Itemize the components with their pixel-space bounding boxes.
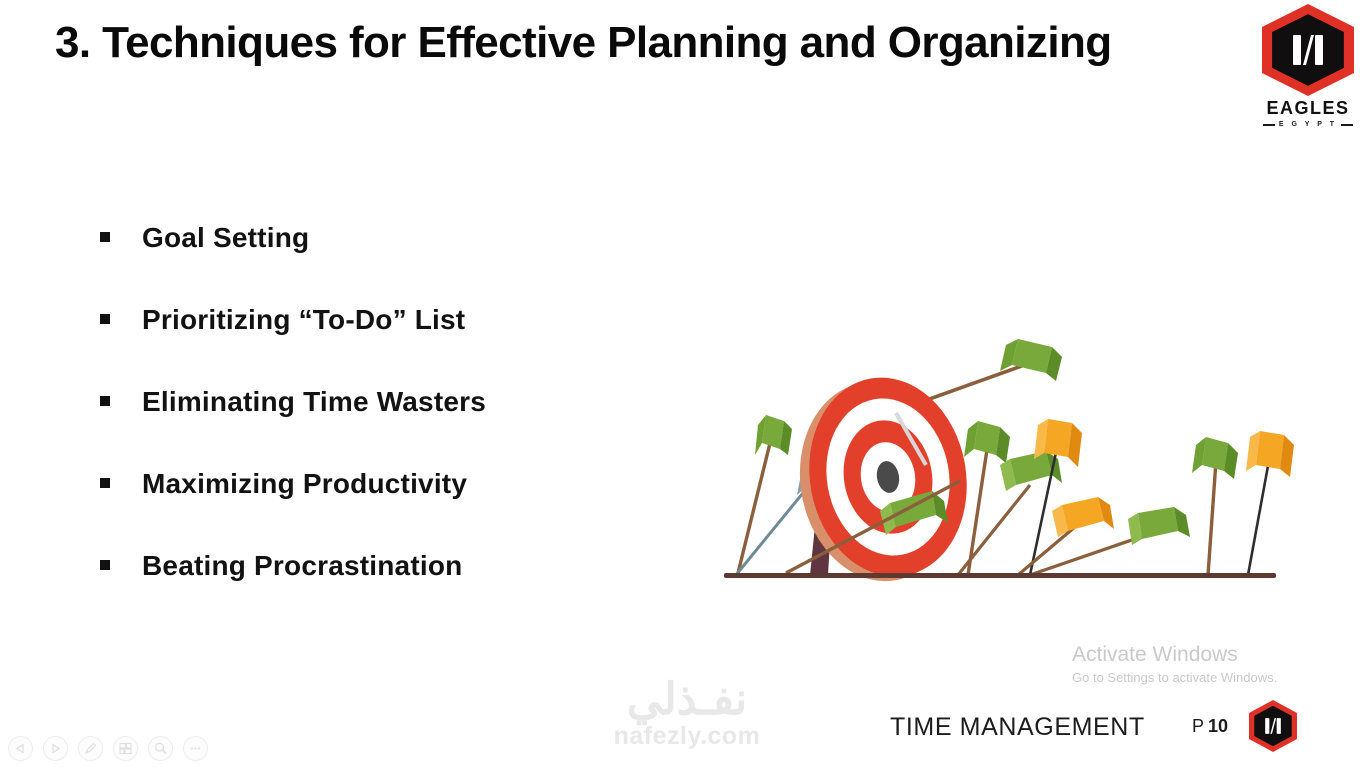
bullet-list: Goal Setting Prioritizing “To-Do” List E… xyxy=(100,222,720,632)
triangle-left-icon xyxy=(14,742,27,755)
arrow-group-right xyxy=(958,419,1190,575)
watermark-arabic: نفـذلي xyxy=(592,678,782,722)
list-item: Eliminating Time Wasters xyxy=(100,386,720,468)
square-bullet-icon xyxy=(100,478,110,488)
activate-windows-overlay: Activate Windows Go to Settings to activ… xyxy=(1072,642,1322,687)
ellipsis-icon xyxy=(188,741,203,756)
watermark-latin: nafezly.com xyxy=(592,723,782,751)
brand-subtitle: E G Y P T xyxy=(1279,121,1337,128)
square-bullet-icon xyxy=(100,560,110,570)
presentation-slide: 3. Techniques for Effective Planning and… xyxy=(0,0,1365,767)
list-item: Goal Setting xyxy=(100,222,720,304)
page-label: P xyxy=(1192,716,1204,736)
next-slide-button[interactable] xyxy=(43,736,68,761)
hexagon-logo-icon xyxy=(1262,4,1354,96)
slide-title: 3. Techniques for Effective Planning and… xyxy=(55,18,1235,69)
list-item-label: Goal Setting xyxy=(142,222,309,254)
square-bullet-icon xyxy=(100,396,110,406)
pen-tool-button[interactable] xyxy=(78,736,103,761)
activate-windows-subtitle: Go to Settings to activate Windows. xyxy=(1072,670,1322,687)
arrow-group-far-right xyxy=(1192,431,1294,575)
eagle-monogram-icon xyxy=(1249,700,1297,752)
footer-deck-title: TIME MANAGEMENT xyxy=(890,713,1145,742)
brand-logo: EAGLES E G Y P T xyxy=(1258,4,1358,136)
grid-icon xyxy=(118,741,133,756)
footer-logo xyxy=(1249,700,1297,752)
list-item: Beating Procrastination xyxy=(100,550,720,632)
eagle-monogram-icon xyxy=(1262,4,1354,96)
square-bullet-icon xyxy=(100,314,110,324)
hexagon-logo-icon xyxy=(1249,700,1297,752)
brand-subtitle-row: E G Y P T xyxy=(1258,121,1358,128)
more-options-button[interactable] xyxy=(183,736,208,761)
player-toolbar[interactable] xyxy=(8,736,208,761)
magnifier-icon xyxy=(153,741,168,756)
activate-windows-title: Activate Windows xyxy=(1072,642,1322,667)
list-item-label: Eliminating Time Wasters xyxy=(142,386,486,418)
zoom-button[interactable] xyxy=(148,736,173,761)
slide-overview-button[interactable] xyxy=(113,736,138,761)
rule-right xyxy=(1341,124,1353,126)
pencil-icon xyxy=(83,741,98,756)
watermark: نفـذلي nafezly.com xyxy=(592,678,782,751)
previous-slide-button[interactable] xyxy=(8,736,33,761)
list-item-label: Beating Procrastination xyxy=(142,550,462,582)
brand-name: EAGLES xyxy=(1258,98,1358,119)
page-number: 10 xyxy=(1208,716,1228,736)
archery-target-illustration xyxy=(700,325,1300,595)
ground-line xyxy=(724,573,1276,578)
list-item: Maximizing Productivity xyxy=(100,468,720,550)
list-item-label: Prioritizing “To-Do” List xyxy=(142,304,465,336)
footer-page-indicator: P10 xyxy=(1192,716,1228,737)
rule-left xyxy=(1263,124,1275,126)
list-item-label: Maximizing Productivity xyxy=(142,468,467,500)
triangle-right-icon xyxy=(49,742,62,755)
square-bullet-icon xyxy=(100,232,110,242)
list-item: Prioritizing “To-Do” List xyxy=(100,304,720,386)
